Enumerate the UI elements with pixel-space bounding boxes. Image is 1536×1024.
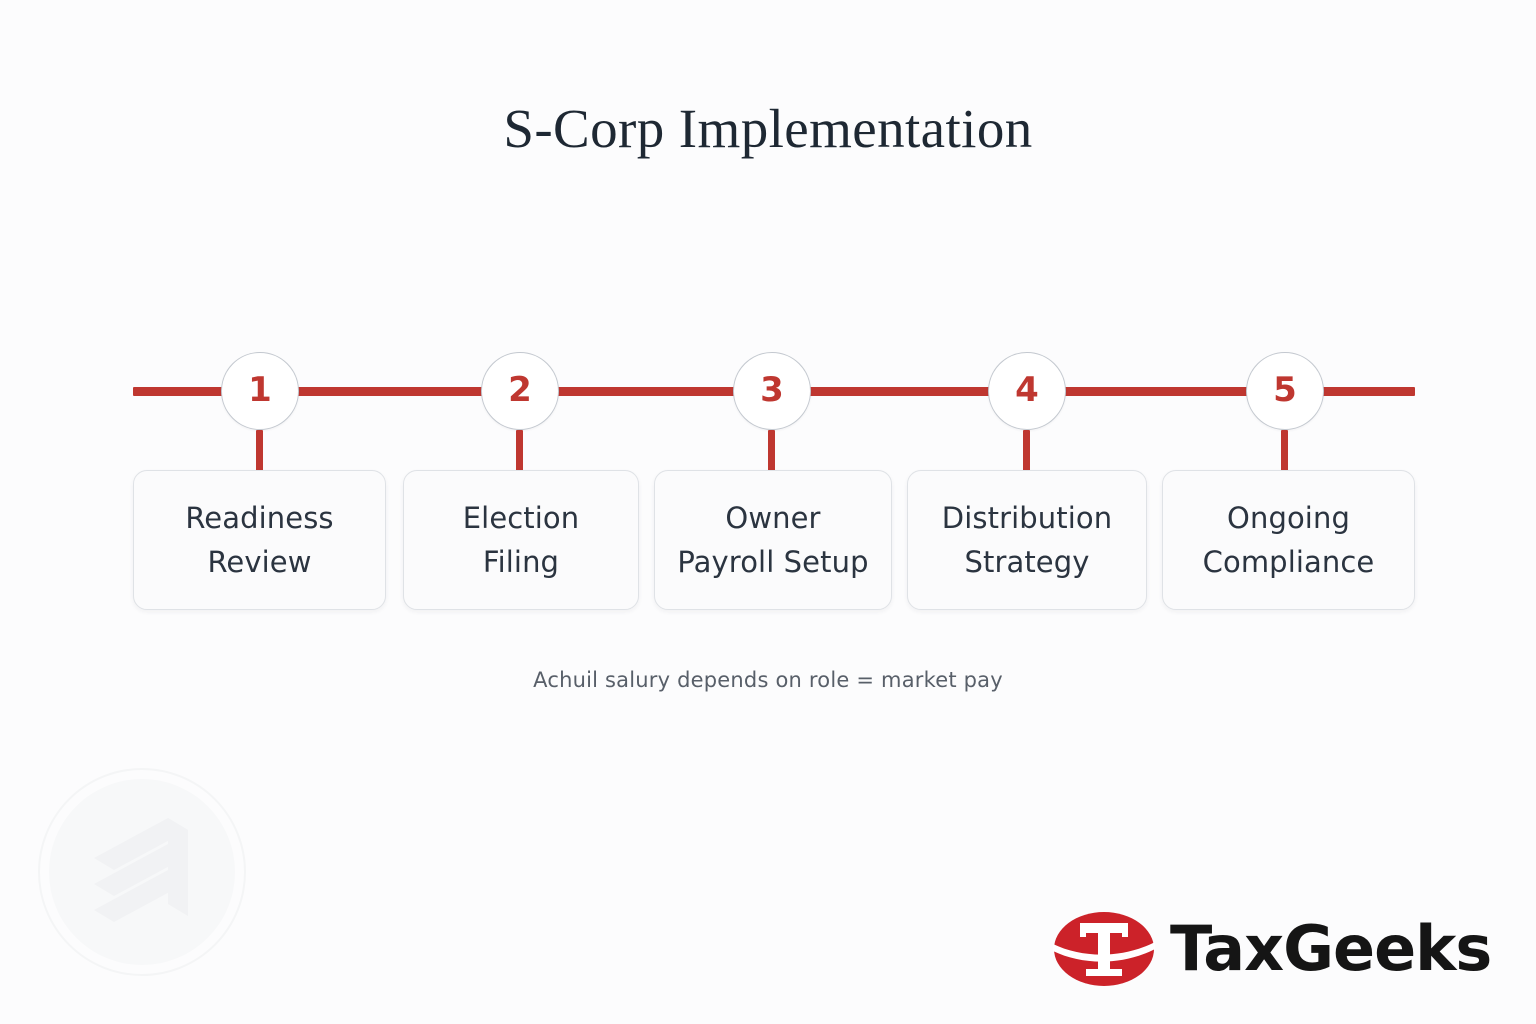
step-circle-2[interactable]: 2	[481, 352, 559, 430]
step-box-line-1: Readiness	[185, 496, 333, 540]
step-box-line-1: Distribution	[942, 496, 1112, 540]
slide-canvas: S-Corp Implementation 1 2 3 4 5 Readines…	[0, 0, 1536, 1024]
step-box-line-2: Review	[207, 540, 311, 584]
step-box-line-2: Filing	[483, 540, 559, 584]
step-circle-3[interactable]: 3	[733, 352, 811, 430]
step-number-1: 1	[248, 373, 272, 407]
step-box-row: Readiness Review Election Filing Owner P…	[133, 470, 1415, 610]
connector-stem-1	[256, 430, 263, 472]
connector-stem-5	[1281, 430, 1288, 472]
step-circle-5[interactable]: 5	[1246, 352, 1324, 430]
step-box-line-2: Compliance	[1203, 540, 1375, 584]
connector-stem-3	[768, 430, 775, 472]
step-box-distribution-strategy[interactable]: Distribution Strategy	[907, 470, 1147, 610]
step-box-readiness-review[interactable]: Readiness Review	[133, 470, 386, 610]
taxgeeks-mark-icon	[1052, 908, 1156, 990]
connector-stem-4	[1023, 430, 1030, 472]
connector-stem-2	[516, 430, 523, 472]
step-circle-1[interactable]: 1	[221, 352, 299, 430]
step-box-line-2: Payroll Setup	[677, 540, 868, 584]
step-number-2: 2	[508, 373, 532, 407]
caption-note: Achuil salury depends on role = market p…	[0, 668, 1536, 692]
step-number-5: 5	[1273, 373, 1297, 407]
step-box-line-2: Strategy	[964, 540, 1089, 584]
step-box-line-1: Owner	[725, 496, 820, 540]
step-box-line-1: Election	[463, 496, 580, 540]
step-box-owner-payroll-setup[interactable]: Owner Payroll Setup	[654, 470, 892, 610]
brand-logo: TaxGeeks	[1052, 906, 1491, 992]
step-circle-4[interactable]: 4	[988, 352, 1066, 430]
step-box-election-filing[interactable]: Election Filing	[403, 470, 639, 610]
page-title: S-Corp Implementation	[0, 99, 1536, 160]
brand-wordmark: TaxGeeks	[1170, 918, 1491, 980]
step-number-4: 4	[1015, 373, 1039, 407]
timeline: 1 2 3 4 5	[133, 352, 1415, 432]
step-number-3: 3	[760, 373, 784, 407]
circular-emblem-watermark	[36, 766, 248, 978]
step-box-line-1: Ongoing	[1227, 496, 1350, 540]
step-box-ongoing-compliance[interactable]: Ongoing Compliance	[1162, 470, 1415, 610]
